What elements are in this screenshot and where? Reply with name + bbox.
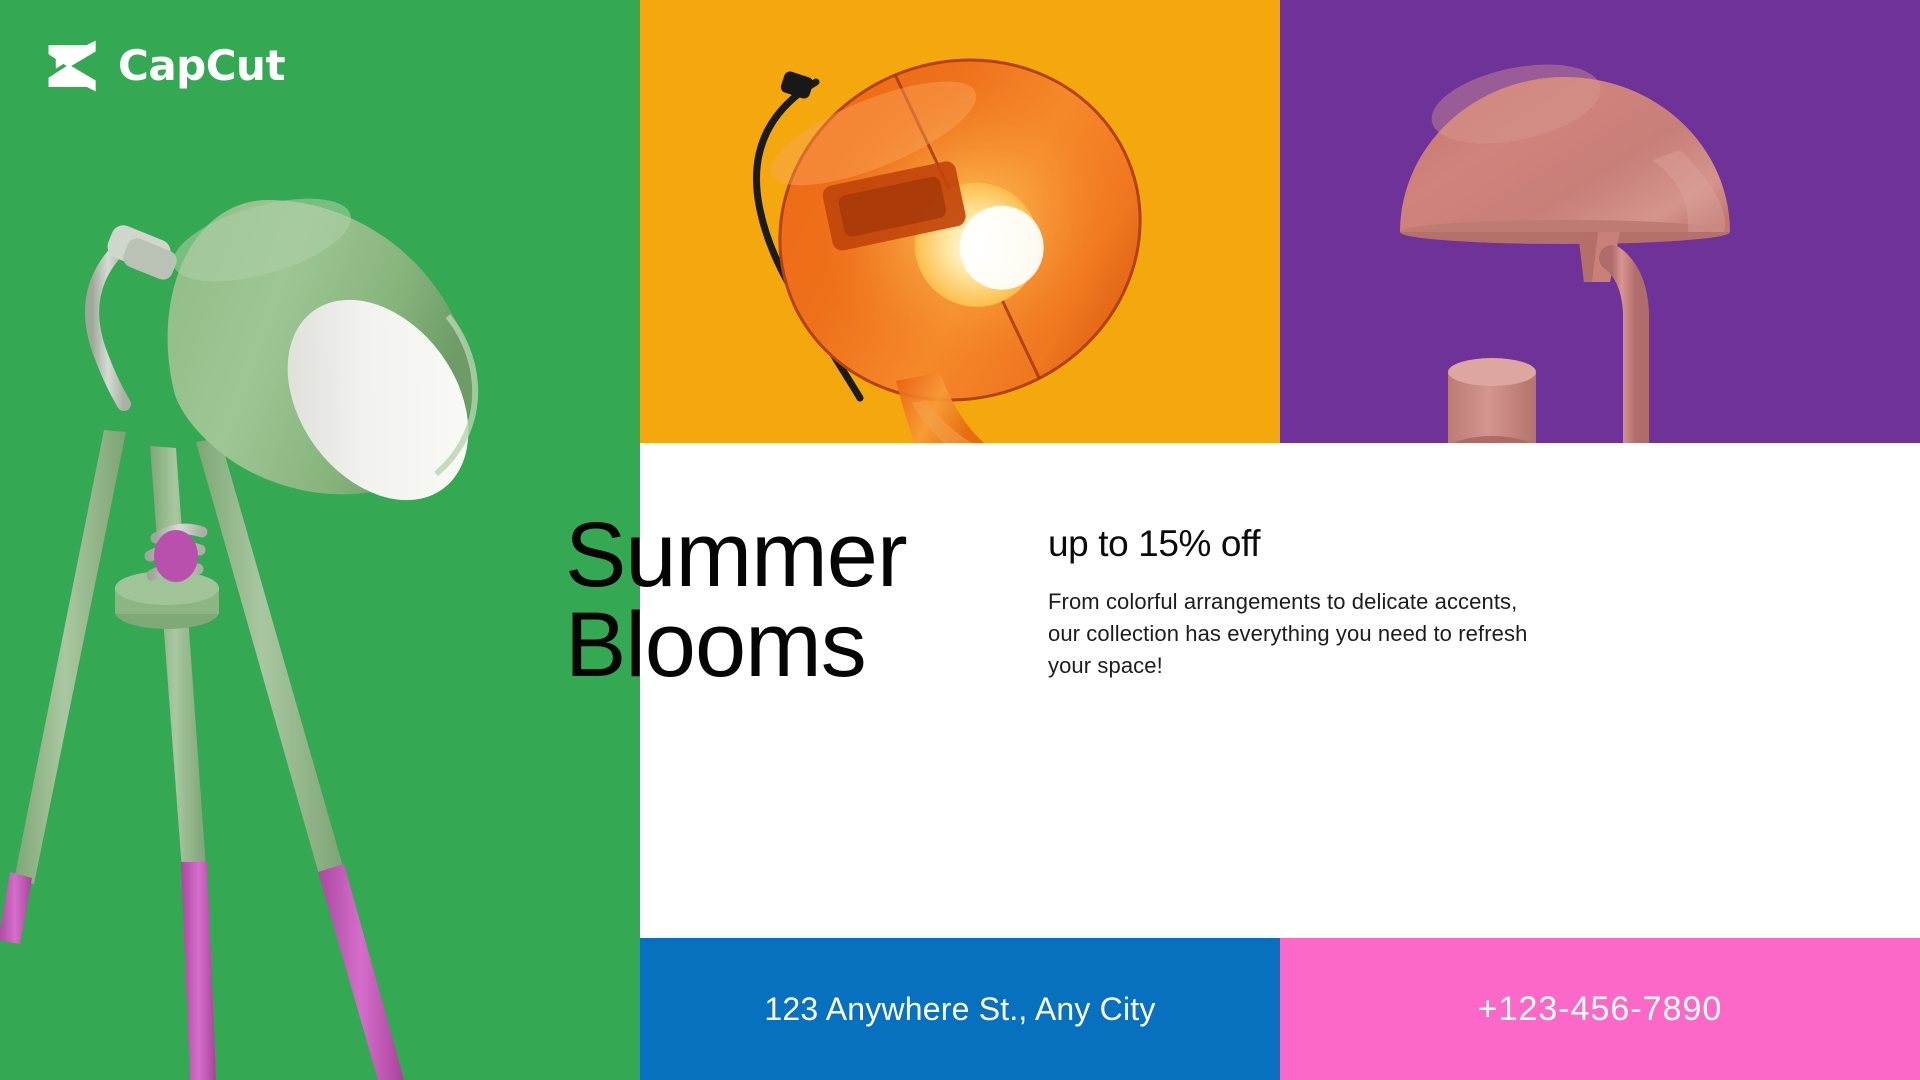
promo-kicker: up to 15% off (1048, 525, 1528, 564)
poster-canvas: CapCut (0, 0, 1920, 1080)
promo-body: From colorful arrangements to delicate a… (1048, 586, 1528, 682)
promo-block: up to 15% off From colorful arrangements… (1048, 525, 1528, 682)
capcut-bowtie-icon (44, 38, 102, 94)
purple-lamp-panel (1280, 0, 1920, 443)
green-lamp-panel: CapCut (0, 0, 640, 1080)
orange-glass-dome-lamp-image (640, 0, 1280, 443)
green-tripod-lamp-image (0, 0, 640, 1080)
page-title: Summer Blooms (565, 510, 1035, 690)
headline-line-2: Blooms (565, 600, 1035, 690)
phone-text: +123-456-7890 (1280, 938, 1920, 1080)
orange-lamp-panel (640, 0, 1280, 443)
capcut-logo[interactable]: CapCut (44, 38, 285, 94)
pink-dome-table-lamp-image (1280, 0, 1920, 443)
capcut-wordmark: CapCut (118, 45, 285, 87)
headline-line-1: Summer (565, 510, 1035, 600)
address-text: 123 Anywhere St., Any City (640, 938, 1280, 1080)
